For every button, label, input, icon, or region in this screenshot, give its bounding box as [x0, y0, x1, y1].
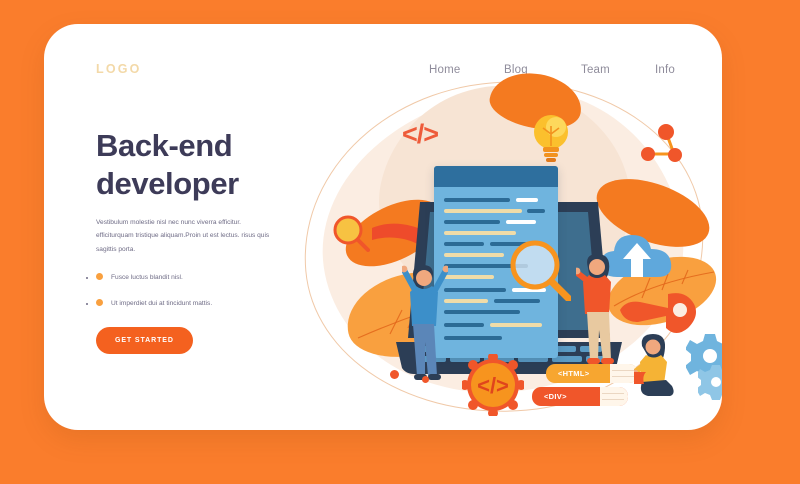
decorative-dot: [390, 370, 399, 379]
person-developer-left: [402, 262, 448, 384]
document-title-bar: [434, 166, 558, 187]
headline-line-2: developer: [96, 166, 239, 201]
code-line: [444, 198, 510, 202]
gear-blue-small-icon: [698, 364, 722, 400]
code-brackets-icon: </>: [402, 119, 438, 150]
code-line: [444, 242, 484, 246]
hero-paragraph: Vestibulum molestie nisl nec nunc viverr…: [96, 216, 271, 256]
logo[interactable]: LOGO: [96, 62, 142, 76]
book-label: <DIV>: [544, 392, 567, 401]
magnifier-small-icon: [332, 214, 370, 252]
code-line: [444, 231, 516, 235]
headline-line-1: Back-end: [96, 128, 232, 163]
code-line: [444, 253, 504, 257]
gear-code-icon: </>: [462, 354, 524, 416]
hero-illustration: </>: [294, 64, 722, 419]
gear-code-symbol: </>: [477, 373, 509, 398]
lightbulb-icon: [530, 112, 572, 164]
code-line: [506, 220, 536, 224]
page-root: LOGO Home Blog Team Info Back-end develo…: [0, 0, 800, 484]
list-item: Fusce luctus blandit nisl.: [96, 273, 281, 283]
code-line: [444, 288, 506, 292]
magnifier-icon: [509, 239, 571, 301]
code-line: [516, 198, 538, 202]
book-div: <DIV>: [532, 387, 628, 406]
code-line: [444, 299, 488, 303]
code-line: [527, 209, 545, 213]
code-line: [444, 336, 502, 340]
code-line: [490, 323, 542, 327]
person-developer-right: [634, 332, 686, 400]
book-pages: [600, 387, 628, 406]
code-line: [444, 209, 522, 213]
list-item: Ut imperdiet dui at tincidunt mattis.: [96, 299, 281, 309]
hero-card: LOGO Home Blog Team Info Back-end develo…: [44, 24, 722, 430]
feature-list: Fusce luctus blandit nisl. Ut imperdiet …: [96, 273, 281, 325]
code-line: [444, 275, 494, 279]
person-developer-middle: [576, 250, 620, 368]
code-line: [444, 323, 484, 327]
code-line: [444, 220, 500, 224]
share-network-icon: [638, 120, 684, 166]
get-started-button[interactable]: GET STARTED: [96, 327, 193, 354]
book-label: <HTML>: [558, 369, 589, 378]
decorative-dot: [422, 376, 429, 383]
code-line: [444, 310, 520, 314]
